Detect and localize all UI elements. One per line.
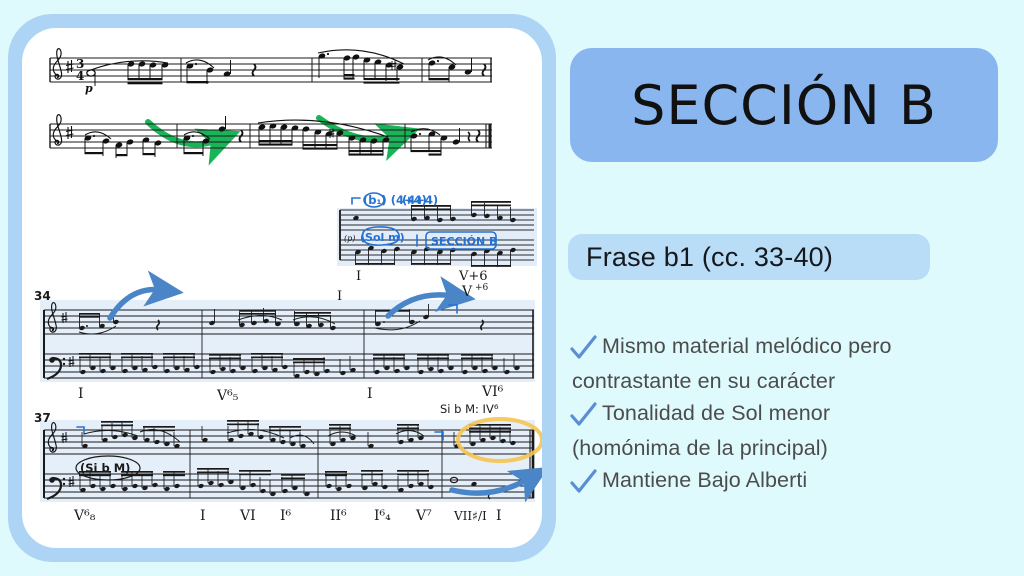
handwritten-grouping-label: (4+4) bbox=[402, 193, 438, 207]
roman-numeral-34-4: VI⁶ bbox=[481, 384, 504, 400]
bullet-text-2-line2: (homónima de la principal) bbox=[570, 436, 828, 460]
list-item: Mismo material melódico pero bbox=[568, 330, 1020, 364]
score-card: 3 4 p bbox=[8, 14, 556, 562]
roman-numeral-37-9: I bbox=[496, 508, 502, 524]
modulation-label: Si b M: IV⁶ bbox=[440, 402, 499, 416]
section-title-badge: SECCIÓN B bbox=[570, 48, 998, 162]
list-item: Tonalidad de Sol menor bbox=[568, 397, 1020, 431]
roman-numeral-37-8: VII♯/I bbox=[453, 509, 487, 523]
measure-number-34: 34 bbox=[34, 289, 51, 303]
handwritten-key-label: (Sol m) bbox=[360, 231, 405, 244]
roman-numeral-inset-1: I bbox=[356, 269, 361, 284]
bullet-text-1: Mismo material melódico pero bbox=[602, 330, 892, 362]
staff-system-2 bbox=[50, 115, 492, 158]
roman-numeral-34-2: V⁶₅ bbox=[216, 388, 239, 404]
info-panel: SECCIÓN B Frase b1 (cc. 33-40) Mismo mat… bbox=[560, 0, 1024, 576]
subtitle-text: Frase b1 (cc. 33-40) bbox=[586, 242, 833, 273]
staff-system-37: 37 bbox=[34, 411, 542, 524]
roman-numeral-inset-2: V+6 bbox=[458, 269, 488, 284]
roman-numeral-37-1: V⁶₈ bbox=[73, 508, 96, 524]
check-icon bbox=[568, 468, 598, 498]
inset-annotated-staff: (b₁) (4+4) (4+4) (Sol m) (p) SECCIÓN B I… bbox=[337, 193, 537, 284]
dynamic-p: p bbox=[85, 82, 93, 95]
handwritten-key-label-37: (Si b M) bbox=[80, 461, 130, 475]
staff-system-1: 3 4 p bbox=[50, 49, 492, 95]
bullet-list: Mismo material melódico pero contrastant… bbox=[568, 330, 1020, 499]
time-signature-bottom: 4 bbox=[76, 69, 84, 83]
list-item-continuation: (homónima de la principal) bbox=[568, 432, 1020, 464]
roman-numeral-37-3: VI bbox=[239, 508, 256, 524]
roman-numeral-34-1: I bbox=[78, 386, 84, 402]
roman-numeral-37-4: I⁶ bbox=[280, 508, 292, 524]
roman-numeral-above-2: V bbox=[461, 284, 473, 300]
music-score-image: 3 4 p bbox=[22, 28, 542, 548]
list-item: Mantiene Bajo Alberti bbox=[568, 464, 1020, 498]
notes-system2 bbox=[84, 116, 480, 158]
roman-numeral-37-7: V⁷ bbox=[415, 508, 432, 524]
check-icon bbox=[568, 401, 598, 431]
measure-number-37: 37 bbox=[34, 411, 51, 425]
bullet-text-2: Tonalidad de Sol menor bbox=[602, 397, 830, 429]
list-item-continuation: contrastante en su carácter bbox=[568, 365, 1020, 397]
handwritten-section-label: SECCIÓN B bbox=[431, 235, 497, 248]
subtitle-badge: Frase b1 (cc. 33-40) bbox=[568, 234, 930, 280]
notes-measure-4 bbox=[428, 57, 486, 82]
check-icon bbox=[568, 334, 598, 364]
roman-numeral-above-1: I bbox=[337, 289, 342, 304]
quarter-rest bbox=[253, 64, 256, 76]
bullet-text-1-line2: contrastante en su carácter bbox=[570, 369, 835, 393]
page-title: SECCIÓN B bbox=[631, 74, 937, 137]
roman-numeral-34-3: I bbox=[367, 386, 373, 402]
staff-system-34: 34 bbox=[34, 283, 535, 416]
roman-numeral-37-5: II⁶ bbox=[330, 508, 347, 524]
roman-numeral-above-2-figure: +6 bbox=[475, 283, 489, 293]
key-signature bbox=[66, 60, 74, 73]
roman-numeral-37-6: I⁶₄ bbox=[374, 508, 391, 524]
notes-measure-3 bbox=[318, 50, 404, 84]
bullet-text-3: Mantiene Bajo Alberti bbox=[602, 464, 807, 496]
roman-numeral-37-2: I bbox=[200, 508, 206, 524]
handwritten-dynamic-label: (p) bbox=[344, 234, 355, 243]
score-card-inner: 3 4 p bbox=[22, 28, 542, 548]
